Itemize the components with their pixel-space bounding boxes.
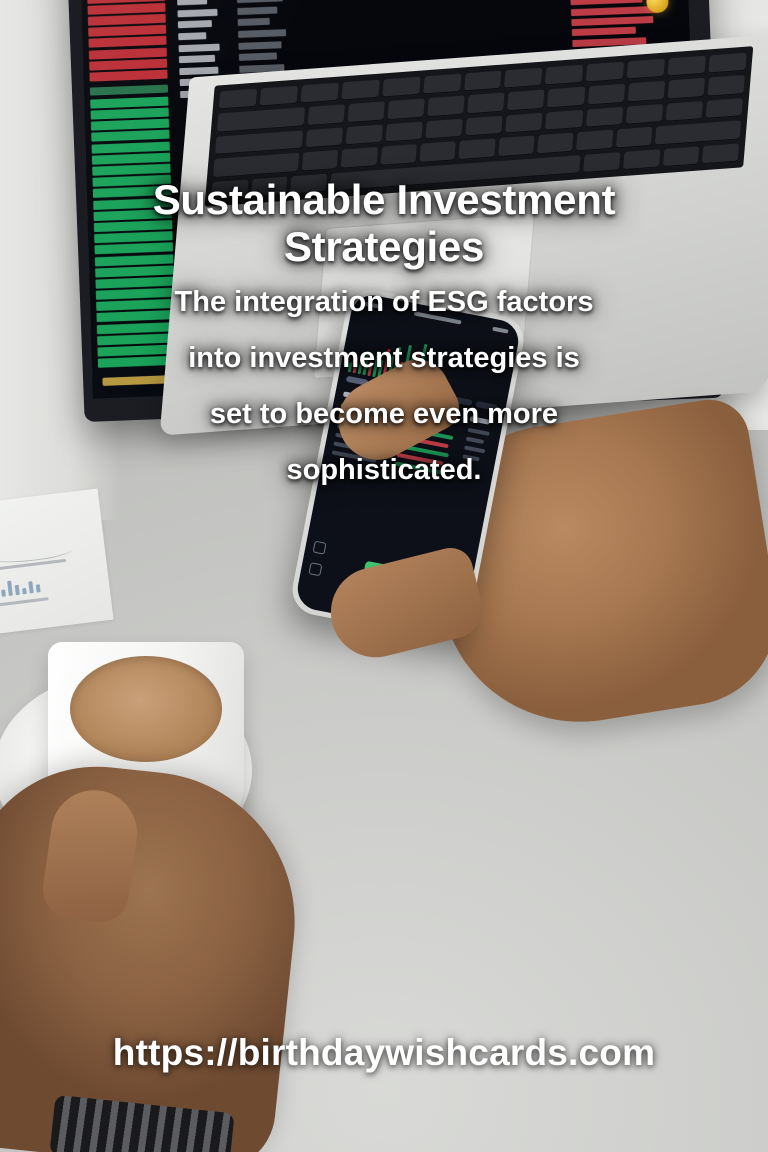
body-line: The integration of ESG factors	[64, 288, 704, 317]
body-line: sophisticated.	[64, 456, 704, 485]
card-title: Sustainable Investment Strategies	[74, 176, 694, 270]
body-line: into investment strategies is	[64, 344, 704, 373]
text-overlay: Sustainable Investment Strategies The in…	[0, 0, 768, 1152]
body-line: set to become even more	[64, 400, 704, 429]
social-card: Buy Sell Sustainable Investment Strategi…	[0, 0, 768, 1152]
site-url[interactable]: https://birthdaywishcards.com	[24, 1032, 744, 1074]
card-body: The integration of ESG factors into inve…	[64, 288, 704, 512]
